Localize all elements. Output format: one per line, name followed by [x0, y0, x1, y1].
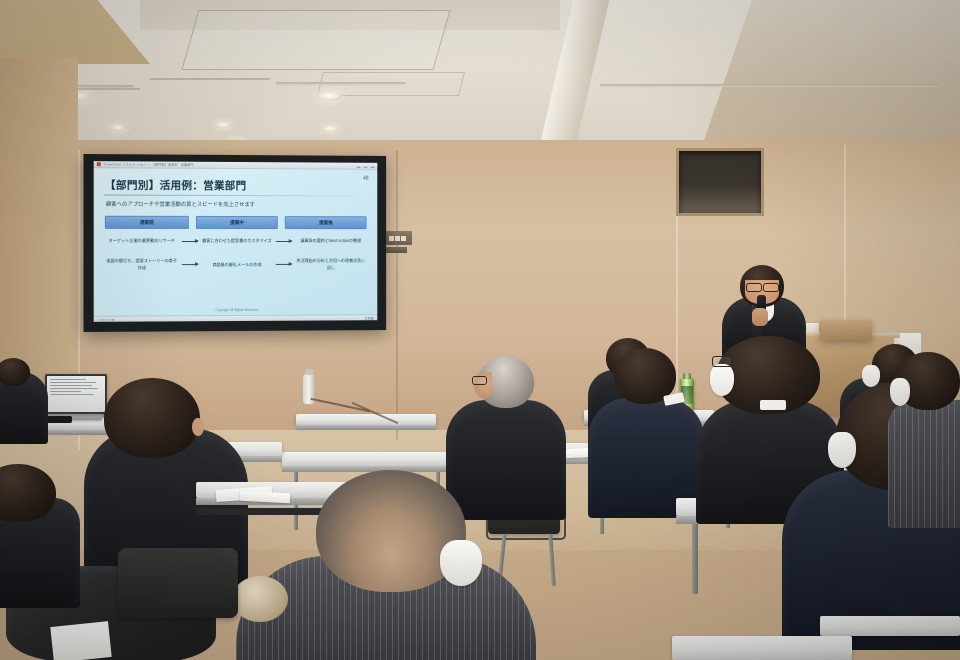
back-table-center-edge	[296, 425, 436, 430]
downlight-icon	[322, 126, 338, 132]
laptop-document	[47, 376, 105, 400]
minimize-icon[interactable]	[357, 166, 361, 167]
slide-title: 【部門別】活用例：営業部門	[105, 177, 369, 193]
audience-table	[820, 616, 960, 636]
ceiling-access-panel	[181, 10, 450, 70]
step-cell: ターゲット企業の業界動向リサーチ	[104, 238, 180, 244]
audience-glasses-icon	[472, 376, 487, 385]
slide-page-number: 48	[363, 176, 368, 182]
thermos-cap	[305, 369, 313, 375]
step-cell: 仮説の壁打ち、提案ストーリーの骨子作成	[104, 258, 180, 271]
slide-subtitle: 顧客へのアプローチや営業活動の質とスピードを向上させます	[106, 201, 369, 209]
projected-image: PowerPoint スライド ショー － 【部門別】活用例：営業部門 48 【…	[94, 161, 378, 322]
audience-shirt-collar	[760, 400, 786, 410]
ceiling-beam-left	[0, 0, 150, 64]
downlight-icon	[215, 122, 231, 128]
ceiling-slot-mid	[276, 82, 406, 85]
status-slide-number: スライド 48	[98, 317, 114, 321]
back-table-center	[296, 414, 436, 425]
downlight-icon	[316, 92, 342, 101]
step-cell: 商談後の御礼メールの作成	[200, 261, 275, 267]
ceiling-right-bay	[700, 0, 960, 152]
ceiling-slot-right	[600, 84, 940, 87]
arrow-right-icon	[182, 241, 198, 242]
folding-chair	[118, 548, 238, 618]
table-leg	[692, 524, 698, 594]
arrow-right-icon	[182, 264, 198, 265]
phase-box-during: 提案中	[196, 216, 279, 229]
status-language: 日本語	[365, 316, 374, 320]
arrow-right-icon	[276, 241, 292, 242]
slide-phase-row: 提案前 提案中 提案後	[105, 216, 367, 229]
audience-head	[104, 378, 200, 458]
wall-seam	[396, 150, 398, 440]
slide-footer: Copyright All Rights Reserved.	[94, 307, 378, 312]
lectern-upper	[820, 320, 872, 340]
ceiling-seam	[150, 78, 271, 80]
audience-ear	[192, 418, 204, 436]
face-mask	[890, 378, 910, 406]
downlight-icon	[110, 125, 126, 131]
audience-table	[672, 636, 852, 660]
ceiling	[0, 0, 960, 152]
presenter-hand	[752, 308, 768, 326]
window-controls	[357, 164, 375, 167]
seminar-room-photo: PowerPoint スライド ショー － 【部門別】活用例：営業部門 48 【…	[0, 0, 960, 660]
audience-torso	[446, 400, 566, 520]
wall-sign-secondary	[385, 247, 407, 253]
slide-step-row-1: ターゲット企業の業界動向リサーチ 顧客に合わせた提案書のカスタマイズ 議事録の要…	[104, 238, 368, 244]
projection-screen: PowerPoint スライド ショー － 【部門別】活用例：営業部門 48 【…	[83, 154, 386, 332]
scarf	[232, 576, 288, 622]
wall-sign	[383, 231, 412, 245]
audience-table	[282, 452, 450, 466]
slide-canvas: 48 【部門別】活用例：営業部門 顧客へのアプローチや営業活動の質とスピードを向…	[94, 168, 378, 322]
powerpoint-window-title: PowerPoint スライド ショー － 【部門別】活用例：営業部門	[104, 162, 194, 167]
slide-step-row-2: 仮説の壁打ち、提案ストーリーの骨子作成 商談後の御礼メールの作成 失注理由の分析…	[104, 258, 368, 271]
wall-recessed-window	[676, 148, 764, 216]
slide-title-divider	[104, 195, 359, 197]
close-icon[interactable]	[370, 166, 374, 167]
face-mask	[710, 364, 734, 396]
audience-head	[0, 358, 30, 386]
powerpoint-logo-icon	[97, 162, 101, 166]
powerpoint-status-bar: スライド 48 日本語	[94, 314, 378, 322]
face-mask	[862, 365, 880, 387]
bottle-cap	[683, 373, 691, 379]
status-right-group: 日本語	[365, 316, 374, 320]
step-cell: 議事録の要約とNext Actionの整理	[294, 238, 368, 244]
phase-box-before: 提案前	[105, 216, 189, 229]
laptop-screen	[45, 374, 107, 414]
phase-box-after: 提案後	[285, 216, 366, 229]
face-mask	[440, 540, 482, 586]
audience-glasses-icon	[712, 356, 732, 367]
maximize-icon[interactable]	[364, 166, 368, 167]
presenter-glasses-right-icon	[763, 283, 779, 292]
notebook	[50, 621, 111, 660]
audience-torso	[888, 400, 960, 528]
arrow-right-icon	[276, 264, 292, 265]
audience-table-edge	[282, 466, 450, 472]
face-mask	[828, 432, 856, 468]
step-cell: 顧客に合わせた提案書のカスタマイズ	[200, 238, 275, 244]
step-cell: 失注理由の分析と次回への改善点洗い出し	[294, 258, 368, 271]
presenter-glasses-left-icon	[746, 283, 762, 292]
